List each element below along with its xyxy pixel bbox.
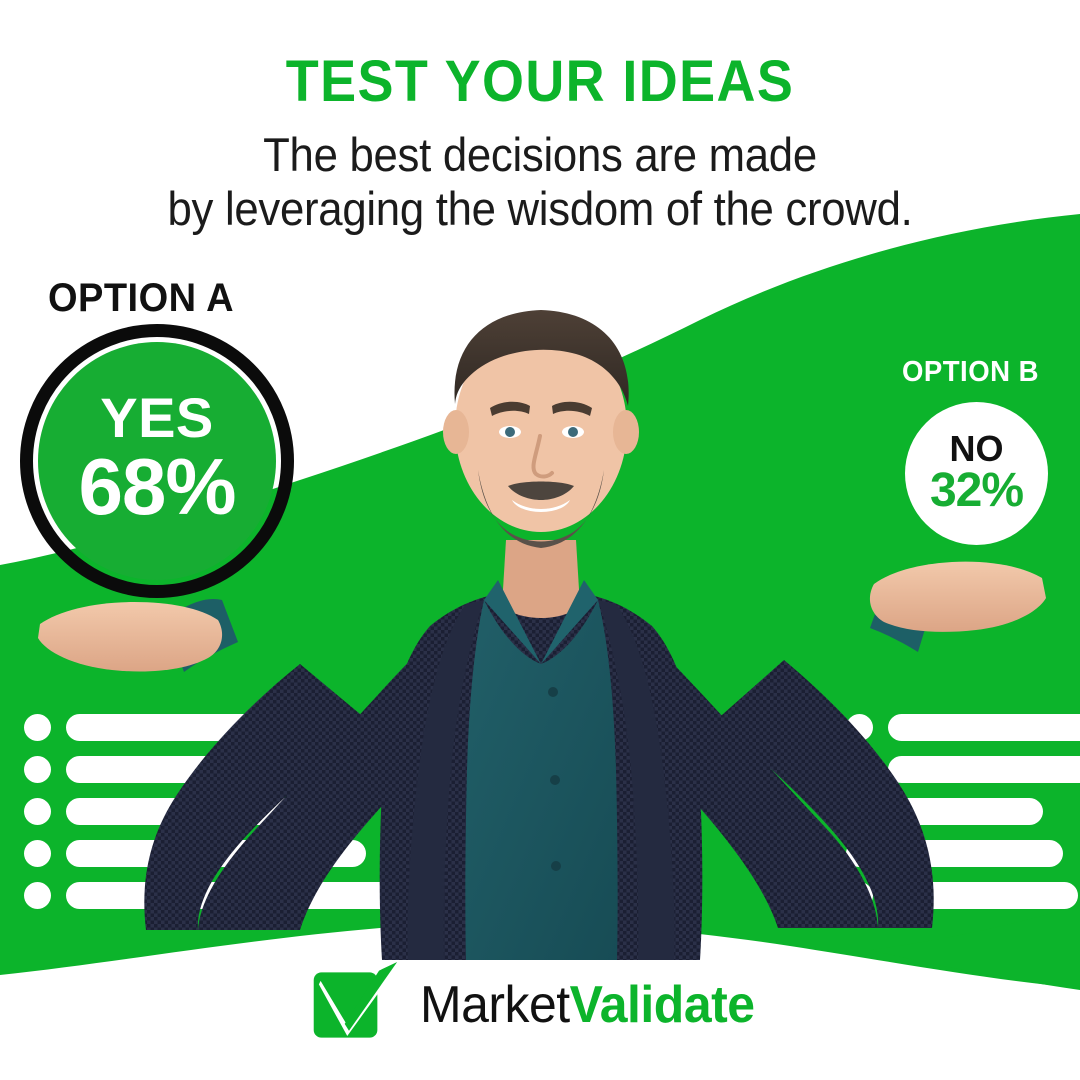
decor-list-left: [24, 706, 401, 916]
page-subtitle: The best decisions are made by leveragin…: [38, 128, 1042, 235]
list-item: [24, 706, 401, 748]
option-b-circle[interactable]: NO 32%: [905, 402, 1048, 545]
list-item: [24, 874, 401, 916]
bullet-bar: [888, 882, 1078, 909]
bullet-dot-icon: [24, 714, 51, 741]
bullet-bar: [66, 714, 396, 741]
brand-name: MarketValidate: [420, 979, 755, 1031]
option-a-label: OPTION A: [48, 276, 234, 321]
headline-block: TEST YOUR IDEAS The best decisions are m…: [0, 52, 1080, 235]
list-item: [846, 874, 1080, 916]
bullet-bar: [888, 798, 1043, 825]
bullet-dot-icon: [846, 714, 873, 741]
option-b-label: OPTION B: [902, 356, 1039, 389]
bullet-bar: [66, 882, 401, 909]
bullet-dot-icon: [846, 840, 873, 867]
list-item: [846, 790, 1080, 832]
bullet-bar: [66, 798, 306, 825]
bullet-dot-icon: [846, 756, 873, 783]
poll-result-poster: TEST YOUR IDEAS The best decisions are m…: [0, 0, 1080, 1080]
bullet-bar: [888, 756, 1080, 783]
bullet-dot-icon: [846, 882, 873, 909]
subtitle-line-2: by leveraging the wisdom of the crowd.: [38, 182, 1042, 236]
bullet-bar: [66, 756, 396, 783]
list-item: [846, 748, 1080, 790]
page-title: TEST YOUR IDEAS: [38, 52, 1042, 112]
option-b-percent: 32%: [930, 467, 1023, 515]
option-a-ring: [20, 324, 294, 598]
bullet-dot-icon: [24, 840, 51, 867]
bullet-bar: [888, 714, 1080, 741]
list-item: [846, 706, 1080, 748]
bullet-dot-icon: [24, 882, 51, 909]
bullet-bar: [888, 840, 1063, 867]
list-item: [24, 832, 401, 874]
list-item: [24, 790, 401, 832]
brand-name-part-1: Market: [420, 976, 570, 1034]
brand-name-part-2: Validate: [569, 976, 754, 1034]
brand-logo[interactable]: MarketValidate: [0, 962, 1080, 1048]
decor-list-right: [846, 706, 1080, 916]
bullet-dot-icon: [846, 798, 873, 825]
option-b-answer: NO: [950, 431, 1004, 467]
subtitle-line-1: The best decisions are made: [38, 128, 1042, 182]
list-item: [846, 832, 1080, 874]
bullet-bar: [66, 840, 366, 867]
bullet-dot-icon: [24, 798, 51, 825]
list-item: [24, 748, 401, 790]
bullet-dot-icon: [24, 756, 51, 783]
checkmark-box-icon: [312, 962, 398, 1048]
